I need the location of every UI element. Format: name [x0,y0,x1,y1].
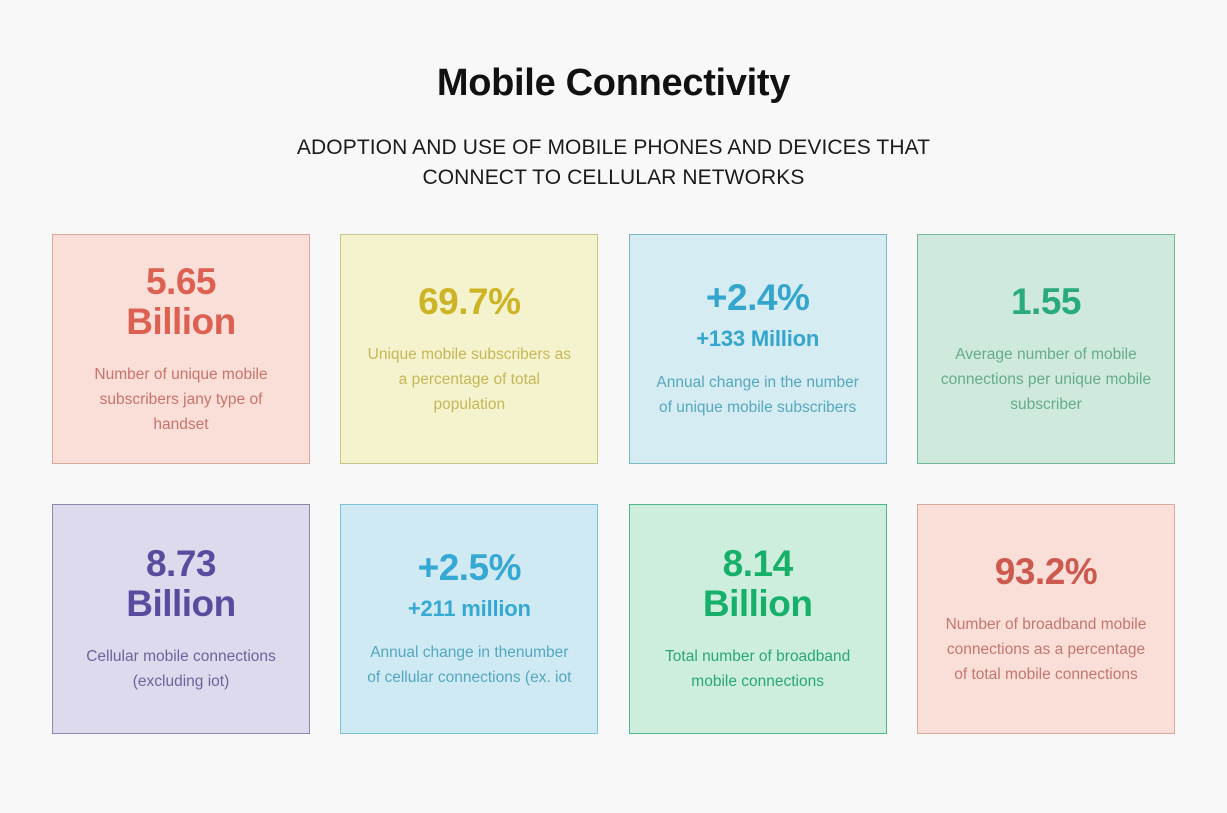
stat-card-broadband-percentage: 93.2%Number of broadband mobile connecti… [917,504,1175,734]
stat-description: Total number of broadband mobile connect… [650,644,865,694]
stat-card-unique-mobile-subscribers: 5.65BillionNumber of unique mobile subsc… [52,234,310,464]
stat-card-subscriber-penetration: 69.7%Unique mobile subscribers as a perc… [340,234,598,464]
stat-value: 8.14Billion [703,544,813,624]
stat-value: 69.7% [418,282,520,322]
stat-value: +2.4% [706,278,809,318]
stat-value-unit: Billion [703,583,813,624]
stat-card-grid: 5.65BillionNumber of unique mobile subsc… [0,234,1227,734]
stat-value: +2.5% [418,548,521,588]
stat-value: 5.65Billion [126,262,236,342]
stat-value: 8.73Billion [126,544,236,624]
stat-value-unit: Billion [126,301,236,342]
stat-description: Cellular mobile connections (excluding i… [74,644,289,694]
stat-description: Number of unique mobile subscribers jany… [74,362,289,437]
stat-card-cellular-mobile-connections: 8.73BillionCellular mobile connections (… [52,504,310,734]
stat-card-annual-change-subscribers: +2.4%+133 MillionAnnual change in the nu… [629,234,887,464]
stat-description: Number of broadband mobile connections a… [938,612,1153,687]
stat-value-unit: Billion [126,583,236,624]
stat-description: Annual change in thenumber of cellular c… [362,640,577,690]
page-subtitle: ADOPTION AND USE OF MOBILE PHONES AND DE… [264,133,964,193]
stat-card-annual-change-connections: +2.5%+211 millionAnnual change in thenum… [340,504,598,734]
stat-description: Annual change in the number of unique mo… [650,370,865,420]
stat-card-connections-per-subscriber: 1.55Average number of mobile connections… [917,234,1175,464]
header: Mobile Connectivity ADOPTION AND USE OF … [0,0,1227,192]
stat-description: Unique mobile subscribers as a percentag… [362,342,577,417]
stat-value: 1.55 [1011,282,1081,322]
page-title: Mobile Connectivity [0,62,1227,106]
stat-subvalue: +211 million [408,596,531,622]
stat-value: 93.2% [995,552,1097,592]
stat-description: Average number of mobile connections per… [938,342,1153,417]
stat-subvalue: +133 Million [696,326,819,352]
infographic-page: Mobile Connectivity ADOPTION AND USE OF … [0,0,1227,813]
stat-card-broadband-mobile-connections: 8.14BillionTotal number of broadband mob… [629,504,887,734]
